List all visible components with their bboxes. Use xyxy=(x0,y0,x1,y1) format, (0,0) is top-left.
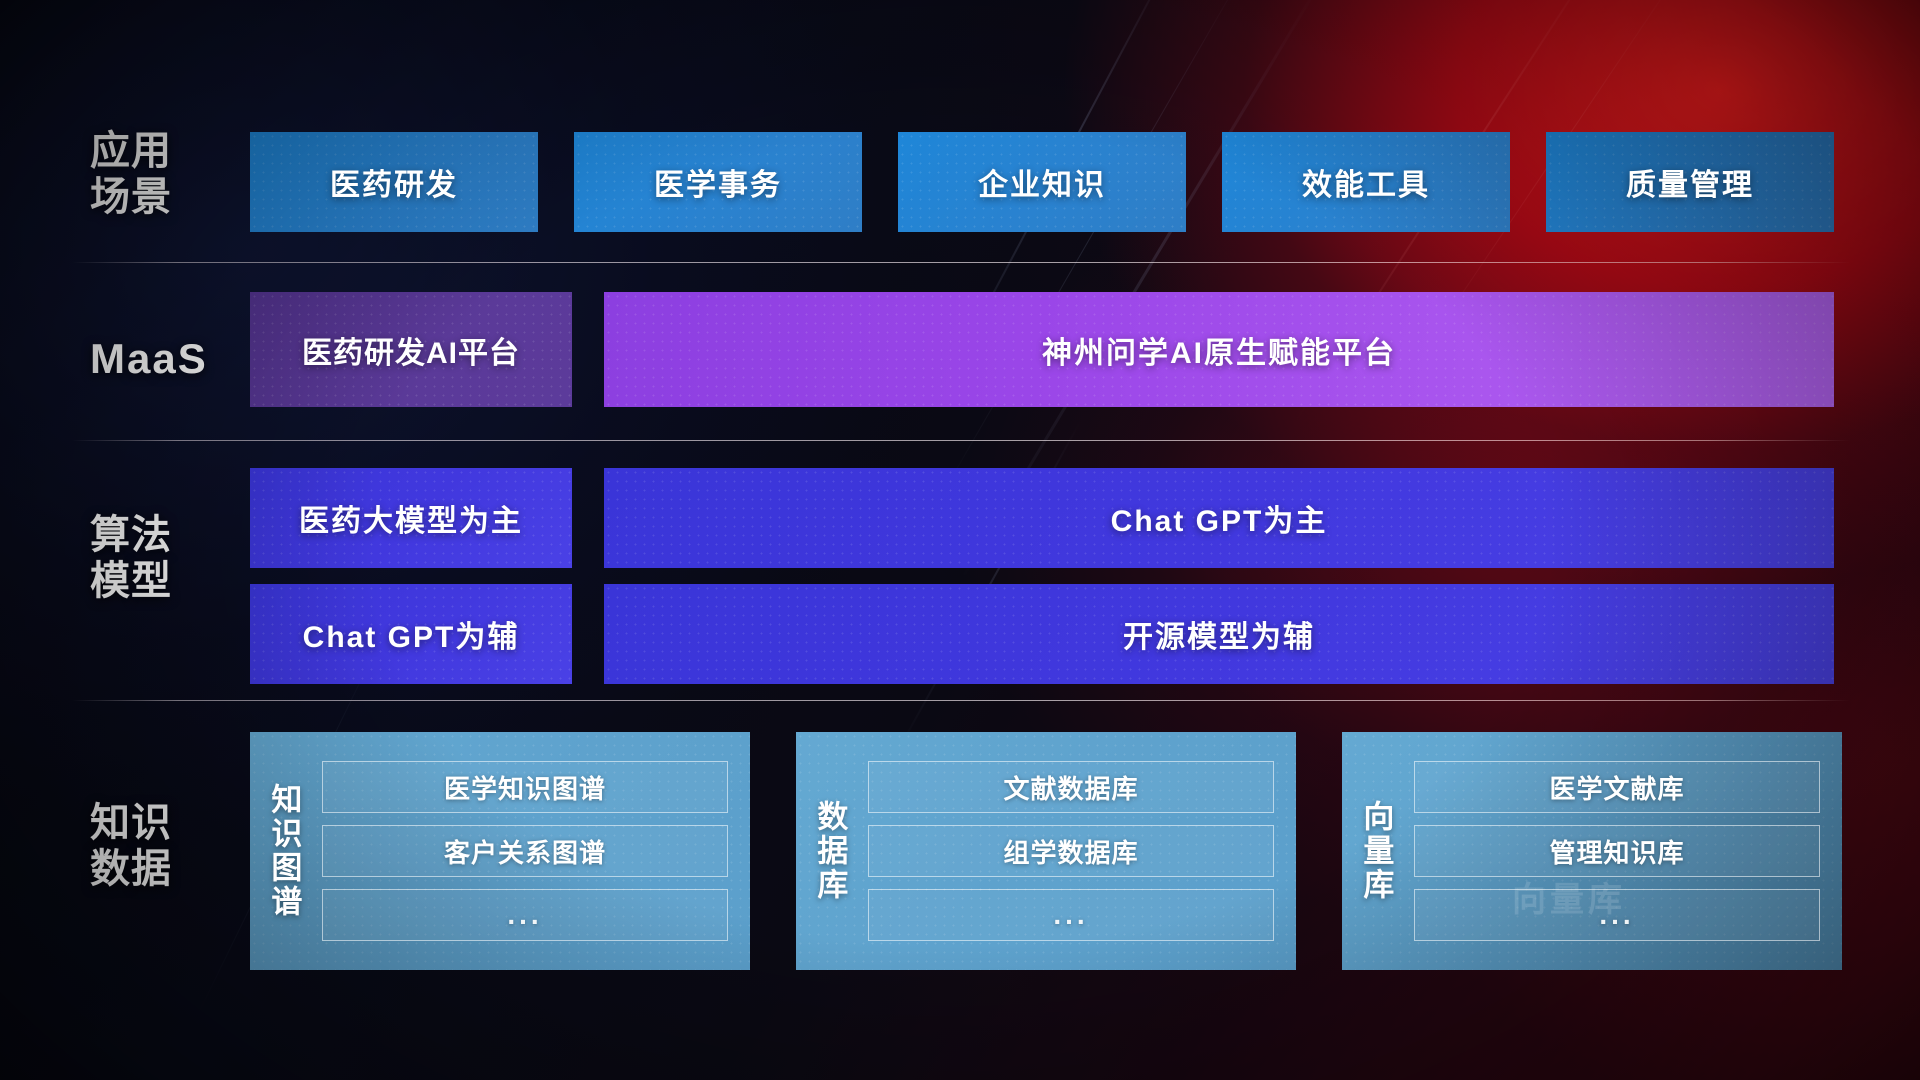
knowledge-item-2-1[interactable]: 管理知识库 xyxy=(1414,825,1820,877)
app-scenario-label-4: 质量管理 xyxy=(1626,160,1754,204)
knowledge-item-0-2[interactable]: ... xyxy=(322,889,728,941)
app-scenario-card-1[interactable]: 医学事务 xyxy=(574,132,862,232)
row-label-application-line1: 应用 xyxy=(90,128,250,174)
row-label-knowledge-line2: 数据 xyxy=(90,846,250,892)
row-label-application: 应用 场景 xyxy=(90,128,250,221)
knowledge-item-0-1[interactable]: 客户关系图谱 xyxy=(322,825,728,877)
app-scenario-label-1: 医学事务 xyxy=(654,160,782,204)
streak xyxy=(940,0,1251,497)
maas-right-card[interactable]: 神州问学AI原生赋能平台 xyxy=(604,292,1834,407)
app-scenario-card-4[interactable]: 质量管理 xyxy=(1546,132,1834,232)
architecture-diagram: 应用 场景 医药研发 医学事务 企业知识 效能工具 质量管理 MaaS 医药研发… xyxy=(0,0,1920,1080)
row-label-algorithm-line2: 模型 xyxy=(90,558,250,604)
knowledge-group-2-side-label: 向量库 xyxy=(1342,732,1408,970)
divider-algorithm-knowledge xyxy=(72,700,1850,701)
knowledge-item-2-2[interactable]: ... xyxy=(1414,889,1820,941)
row-label-knowledge: 知识 数据 xyxy=(90,800,250,893)
knowledge-item-1-2[interactable]: ... xyxy=(868,889,1274,941)
app-scenario-label-3: 效能工具 xyxy=(1302,160,1430,204)
algorithm-right-label-1: 开源模型为辅 xyxy=(1123,612,1315,656)
divider-maas-algorithm xyxy=(72,440,1850,441)
knowledge-item-2-0[interactable]: 医学文献库 xyxy=(1414,761,1820,813)
row-label-knowledge-line1: 知识 xyxy=(90,800,250,846)
knowledge-group-0-side-label: 知识图谱 xyxy=(250,732,316,970)
maas-left-label: 医药研发AI平台 xyxy=(302,328,520,372)
maas-right-label: 神州问学AI原生赋能平台 xyxy=(1042,328,1396,372)
algorithm-right-card-0[interactable]: Chat GPT为主 xyxy=(604,468,1834,568)
algorithm-left-card-1[interactable]: Chat GPT为辅 xyxy=(250,584,572,684)
row-label-application-line2: 场景 xyxy=(90,174,250,220)
knowledge-group-0-items: 医学知识图谱 客户关系图谱 ... xyxy=(316,732,750,970)
row-label-algorithm: 算法 模型 xyxy=(90,512,250,605)
algorithm-left-label-0: 医药大模型为主 xyxy=(299,496,523,540)
app-scenario-card-0[interactable]: 医药研发 xyxy=(250,132,538,232)
knowledge-item-1-1[interactable]: 组学数据库 xyxy=(868,825,1274,877)
algorithm-left-label-1: Chat GPT为辅 xyxy=(303,612,520,656)
maas-left-card[interactable]: 医药研发AI平台 xyxy=(250,292,572,407)
app-scenario-label-2: 企业知识 xyxy=(978,160,1106,204)
row-label-maas: MaaS xyxy=(90,335,250,384)
knowledge-group-1[interactable]: 数据库 文献数据库 组学数据库 ... xyxy=(796,732,1296,970)
knowledge-group-0[interactable]: 知识图谱 医学知识图谱 客户关系图谱 ... xyxy=(250,732,750,970)
knowledge-group-1-items: 文献数据库 组学数据库 ... xyxy=(862,732,1296,970)
algorithm-right-label-0: Chat GPT为主 xyxy=(1111,496,1328,540)
knowledge-item-0-0[interactable]: 医学知识图谱 xyxy=(322,761,728,813)
knowledge-group-2[interactable]: 向量库 向量库 医学文献库 管理知识库 ... xyxy=(1342,732,1842,970)
app-scenario-card-2[interactable]: 企业知识 xyxy=(898,132,1186,232)
knowledge-item-1-0[interactable]: 文献数据库 xyxy=(868,761,1274,813)
algorithm-left-card-0[interactable]: 医药大模型为主 xyxy=(250,468,572,568)
app-scenario-label-0: 医药研发 xyxy=(330,160,458,204)
knowledge-group-1-side-label: 数据库 xyxy=(796,732,862,970)
divider-application-maas xyxy=(72,262,1850,263)
row-label-algorithm-line1: 算法 xyxy=(90,512,250,558)
app-scenario-card-3[interactable]: 效能工具 xyxy=(1222,132,1510,232)
algorithm-right-card-1[interactable]: 开源模型为辅 xyxy=(604,584,1834,684)
knowledge-group-2-items: 医学文献库 管理知识库 ... xyxy=(1408,732,1842,970)
